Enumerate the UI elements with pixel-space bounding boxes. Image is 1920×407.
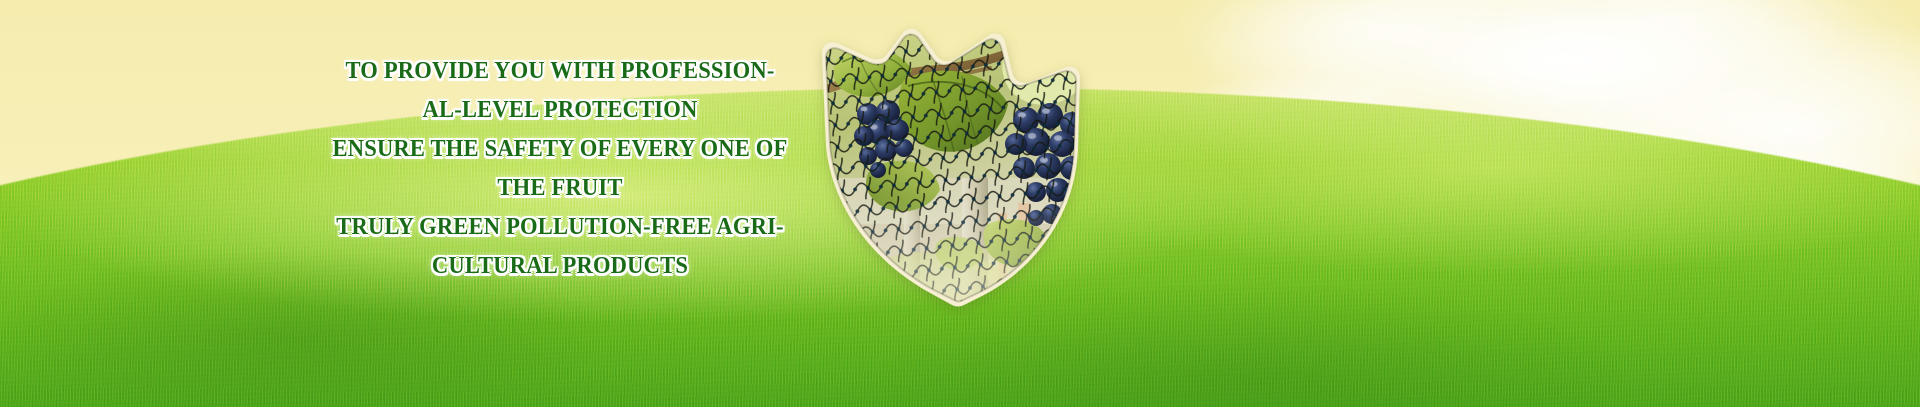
headline-line-5: TRULY GREEN POLLUTION-FREE AGRI-: [316, 208, 805, 247]
headline-line-2: AL-LEVEL PROTECTION: [316, 91, 805, 130]
headline-line-3: ENSURE THE SAFETY OF EVERY ONE OF: [316, 130, 805, 169]
hero-banner: TO PROVIDE YOU WITH PROFESSION- AL-LEVEL…: [0, 0, 1920, 407]
headline-line-1: TO PROVIDE YOU WITH PROFESSION-: [316, 52, 805, 91]
headline-block: TO PROVIDE YOU WITH PROFESSION- AL-LEVEL…: [300, 52, 820, 286]
shield-crest-icon: [812, 28, 1112, 313]
headline-line-6: CULTURAL PRODUCTS: [316, 247, 805, 286]
headline-line-4: THE FRUIT: [316, 169, 805, 208]
grape-shield-badge: [812, 28, 1112, 313]
